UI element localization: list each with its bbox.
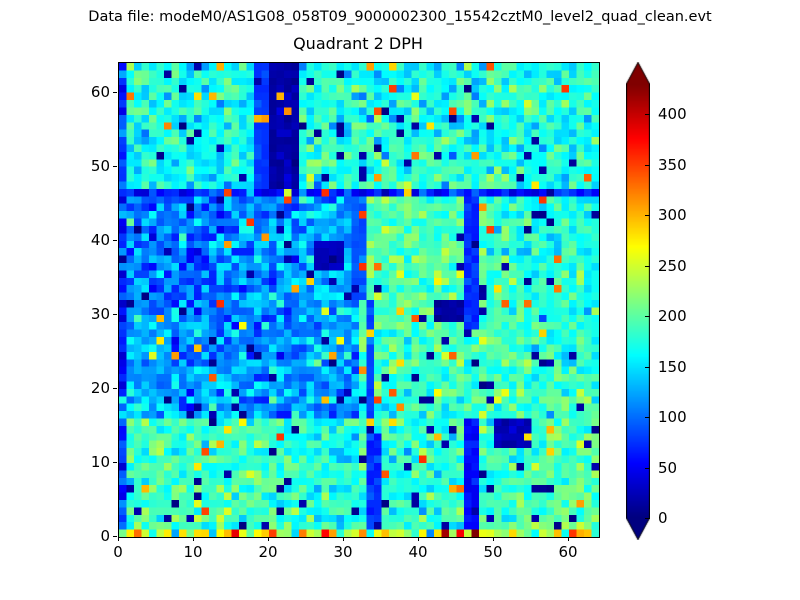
colorbar-tick-mark <box>645 114 650 115</box>
y-tick-mark <box>113 388 117 389</box>
y-tick-mark <box>113 314 117 315</box>
x-tick-label: 50 <box>483 544 502 560</box>
x-tick-mark <box>268 537 269 541</box>
colorbar-tick-label: 400 <box>658 106 687 122</box>
colorbar-tick-mark <box>645 518 650 519</box>
y-tick-mark <box>113 240 117 241</box>
x-tick-label: 20 <box>258 544 277 560</box>
y-tick-mark <box>113 462 117 463</box>
x-tick-label: 30 <box>333 544 352 560</box>
y-tick-label: 40 <box>66 232 110 248</box>
colorbar-tick-mark <box>645 165 650 166</box>
colorbar-tick-label: 150 <box>658 359 687 375</box>
x-tick-label: 0 <box>113 544 123 560</box>
y-tick-label: 30 <box>66 306 110 322</box>
x-tick-mark <box>418 537 419 541</box>
colorbar-tick-label: 300 <box>658 207 687 223</box>
y-tick-label: 10 <box>66 454 110 470</box>
colorbar-tick-mark <box>645 367 650 368</box>
data-file-suptitle: Data file: modeM0/AS1G08_058T09_90000023… <box>0 8 800 26</box>
x-tick-label: 10 <box>183 544 202 560</box>
colorbar-tick-label: 250 <box>658 258 687 274</box>
y-tick-mark <box>113 92 117 93</box>
x-tick-label: 40 <box>408 544 427 560</box>
detector-heatmap-image[interactable] <box>119 63 599 537</box>
x-tick-mark <box>493 537 494 541</box>
colorbar-tick-label: 100 <box>658 409 687 425</box>
y-tick-label: 60 <box>66 84 110 100</box>
page-title: Quadrant 2 DPH <box>118 34 598 54</box>
y-tick-mark <box>113 166 117 167</box>
x-tick-mark <box>193 537 194 541</box>
colorbar-tick-mark <box>645 468 650 469</box>
heatmap-axes[interactable] <box>118 62 600 538</box>
x-tick-mark <box>118 537 119 541</box>
y-tick-label: 0 <box>66 528 110 544</box>
colorbar-tick-label: 200 <box>658 308 687 324</box>
colorbar-tick-mark <box>645 266 650 267</box>
colorbar-tick-mark <box>645 417 650 418</box>
y-tick-label: 50 <box>66 158 110 174</box>
colorbar-tick-mark <box>645 316 650 317</box>
y-tick-label: 20 <box>66 380 110 396</box>
colorbar-tick-label: 350 <box>658 157 687 173</box>
colorbar-tick-label: 0 <box>658 510 668 526</box>
x-tick-mark <box>568 537 569 541</box>
x-tick-mark <box>343 537 344 541</box>
y-tick-mark <box>113 536 117 537</box>
x-tick-label: 60 <box>558 544 577 560</box>
colorbar-tick-label: 50 <box>658 460 677 476</box>
matplotlib-figure: Data file: modeM0/AS1G08_058T09_90000023… <box>0 0 800 600</box>
colorbar-tick-mark <box>645 215 650 216</box>
